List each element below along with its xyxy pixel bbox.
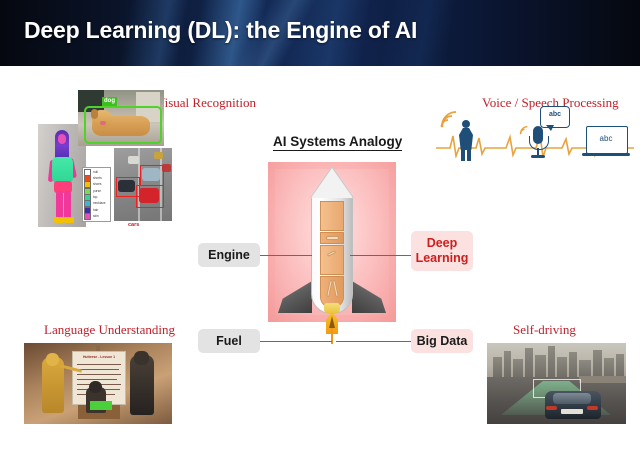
label-deep-learning-line2: Learning bbox=[416, 251, 469, 266]
segment-top bbox=[52, 157, 73, 183]
rocket-fuel-tank-mid bbox=[320, 245, 344, 275]
microphone-stem bbox=[537, 148, 539, 155]
legend-row: skin bbox=[84, 214, 109, 220]
legend-label: null bbox=[93, 170, 98, 175]
caption-language-understanding: Language Understanding bbox=[44, 322, 175, 338]
image-language-understanding: Hutteese - Lesson 1 bbox=[24, 343, 172, 424]
connector-big-data bbox=[336, 341, 411, 342]
drive-building bbox=[593, 350, 602, 379]
label-deep-learning: Deep Learning bbox=[411, 231, 473, 271]
person-body bbox=[459, 128, 473, 150]
image-dog-detection: dog bbox=[78, 90, 164, 146]
drive-guardrail bbox=[579, 376, 626, 383]
segment-shoe-right bbox=[64, 217, 74, 223]
lang-board-title: Hutteese - Lesson 1 bbox=[73, 355, 125, 359]
image-self-driving bbox=[487, 343, 626, 424]
laptop-screen-text: abc bbox=[586, 134, 626, 143]
wifi-signal-icon bbox=[438, 106, 462, 130]
person-leg-left bbox=[461, 149, 465, 161]
connector-engine bbox=[260, 255, 312, 256]
segment-skin-face bbox=[58, 134, 66, 144]
legend-swatch bbox=[84, 213, 91, 220]
speech-bubble-text: abc bbox=[541, 111, 569, 118]
segmentation-legend: nullshortsshoespursetopnecklacehairskin bbox=[82, 167, 111, 222]
legend-label: necklace bbox=[93, 201, 106, 206]
speech-bubble-icon: abc bbox=[540, 106, 570, 128]
legend-label: purse bbox=[93, 189, 101, 194]
label-engine: Engine bbox=[198, 243, 260, 267]
segment-skin-leg-right bbox=[64, 191, 71, 219]
drive-building bbox=[493, 357, 502, 379]
laptop-base bbox=[582, 153, 630, 156]
lang-desk-screen bbox=[90, 401, 112, 410]
drive-building bbox=[548, 346, 555, 379]
speech-bubble-tail bbox=[546, 125, 554, 131]
microphone-icon bbox=[528, 126, 548, 160]
caption-self-driving: Self-driving bbox=[513, 322, 576, 338]
person-head bbox=[462, 120, 470, 128]
legend-label: shoes bbox=[93, 182, 102, 187]
segment-shoe-left bbox=[54, 217, 64, 223]
analogy-title: AI Systems Analogy bbox=[273, 134, 402, 151]
car-bounding-box bbox=[140, 165, 164, 186]
drive-license-plate bbox=[561, 409, 583, 414]
image-car-detection bbox=[114, 148, 172, 221]
title-banner: Deep Learning (DL): the Engine of AI bbox=[0, 0, 640, 66]
drive-taillight-right bbox=[587, 406, 598, 410]
lang-droid-gold-head bbox=[46, 353, 59, 366]
connector-fuel bbox=[260, 341, 332, 342]
drive-building bbox=[557, 357, 567, 379]
label-fuel: Fuel bbox=[198, 329, 260, 353]
slide-root: Deep Learning (DL): the Engine of AI Vis… bbox=[0, 0, 640, 453]
legend-label: top bbox=[93, 195, 97, 200]
car-bounding-box bbox=[136, 185, 164, 208]
legend-label: shorts bbox=[93, 176, 102, 181]
drive-car-window bbox=[553, 393, 591, 404]
dog-bounding-box bbox=[84, 106, 162, 144]
laptop-icon: abc bbox=[582, 126, 630, 160]
lang-figure-dark-head bbox=[134, 351, 149, 365]
rocket-pipe-horizontal bbox=[326, 236, 339, 240]
dog-class-label: dog bbox=[102, 97, 117, 106]
legend-label: skin bbox=[93, 214, 99, 219]
segment-skin-leg-left bbox=[56, 191, 63, 219]
caption-visual-recognition: Visual Recognition bbox=[156, 95, 256, 111]
drive-taillight-left bbox=[546, 406, 557, 410]
voice-speech-illustration: abc abc bbox=[436, 106, 640, 164]
drive-building bbox=[513, 359, 523, 379]
person-leg-right bbox=[467, 149, 471, 161]
drive-building bbox=[569, 352, 577, 379]
label-deep-learning-line1: Deep bbox=[427, 236, 458, 251]
rocket-nose-cone bbox=[311, 168, 353, 198]
rocket-fuel-tank-upper bbox=[320, 201, 344, 231]
cars-class-label: cars bbox=[128, 222, 139, 228]
drive-building bbox=[504, 351, 511, 379]
page-title: Deep Learning (DL): the Engine of AI bbox=[24, 17, 417, 44]
microphone-base bbox=[531, 155, 545, 158]
drive-building bbox=[525, 348, 533, 379]
car-far-yellow bbox=[154, 152, 163, 159]
connector-deep-learning bbox=[350, 255, 411, 256]
drive-building bbox=[535, 355, 546, 379]
microphone-arc bbox=[529, 136, 549, 150]
lang-student-head bbox=[89, 381, 102, 393]
label-big-data: Big Data bbox=[411, 329, 473, 353]
car-far-white bbox=[128, 156, 139, 164]
legend-label: hair bbox=[93, 208, 98, 213]
